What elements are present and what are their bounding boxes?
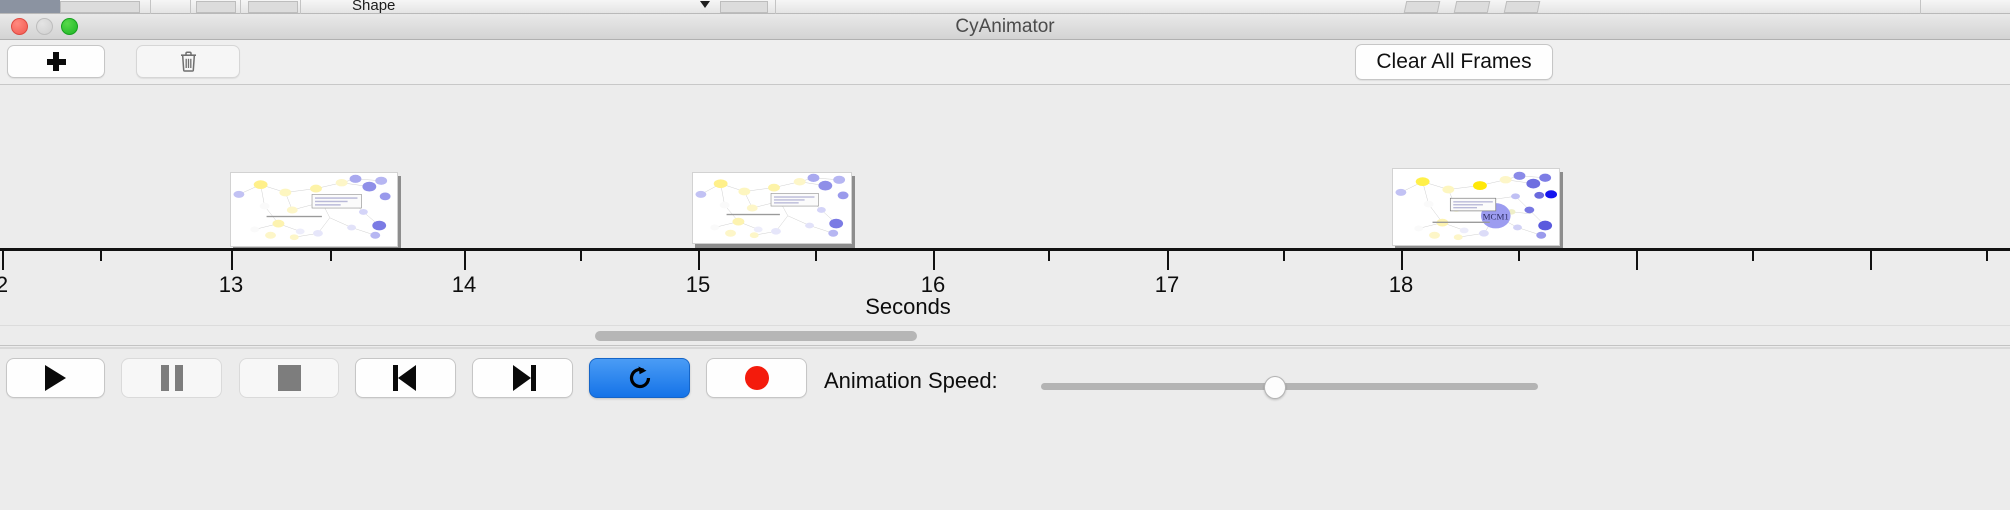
skip-to-end-button[interactable] <box>472 358 573 398</box>
cyanimator-window: Shape CyAnimator <box>0 0 2010 510</box>
loop-icon <box>625 363 655 393</box>
pause-icon <box>161 365 183 391</box>
ruler-tick <box>1986 251 1988 261</box>
ruler-tick <box>580 251 582 261</box>
network-graph-render: MCM1 <box>1393 169 1559 245</box>
frame-thumbnail-2[interactable] <box>692 172 852 244</box>
background-selected-tab <box>0 0 60 13</box>
axis-title-label: Seconds <box>865 294 951 319</box>
ruler-tick <box>330 251 332 261</box>
animation-speed-label: Animation Speed: <box>824 368 998 394</box>
svg-text:MCM1: MCM1 <box>1483 212 1509 222</box>
trash-icon <box>180 51 197 72</box>
clear-all-frames-button[interactable]: Clear All Frames <box>1355 44 1553 80</box>
ruler-tick <box>1167 251 1169 270</box>
delete-frame-button[interactable] <box>136 45 240 78</box>
ruler-tick <box>1752 251 1754 261</box>
ruler-tick <box>1048 251 1050 261</box>
axis-title: Seconds <box>0 294 2010 320</box>
stop-icon <box>278 365 301 391</box>
playback-control-bar: Animation Speed: <box>0 345 2010 510</box>
ruler-tick <box>1401 251 1403 270</box>
skip-to-start-button[interactable] <box>355 358 456 398</box>
background-window-strip: Shape <box>0 0 2010 14</box>
ruler-tick <box>933 251 935 270</box>
title-bar: CyAnimator <box>0 14 2010 40</box>
slider-track <box>1041 383 1538 390</box>
record-button[interactable] <box>706 358 807 398</box>
ruler-tick <box>1283 251 1285 261</box>
plus-icon <box>47 52 66 71</box>
ruler-tick <box>2 251 4 270</box>
skip-back-icon <box>393 365 419 391</box>
play-icon <box>45 365 66 391</box>
ruler-tick <box>1518 251 1520 261</box>
ruler-tick <box>815 251 817 261</box>
ruler-baseline <box>0 248 2010 251</box>
clear-all-frames-label: Clear All Frames <box>1376 50 1531 74</box>
frame-thumbnail-1[interactable] <box>230 172 398 247</box>
ruler-tick <box>231 251 233 270</box>
window-title: CyAnimator <box>0 14 2010 40</box>
background-tabbar <box>0 0 2010 14</box>
network-graph-render <box>693 173 851 243</box>
network-graph-render <box>231 173 397 246</box>
animation-speed-slider[interactable] <box>1041 376 1538 398</box>
skip-forward-icon <box>510 365 536 391</box>
frame-thumbnail-3[interactable]: MCM1 <box>1392 168 1560 246</box>
ruler-tick <box>464 251 466 270</box>
play-button[interactable] <box>6 358 105 398</box>
timeline-canvas[interactable]: MCM1 <box>0 86 2010 248</box>
ruler-tick <box>100 251 102 261</box>
toolbar: Clear All Frames <box>0 40 2010 85</box>
loop-button[interactable] <box>589 358 690 398</box>
ruler-tick <box>1870 251 1872 270</box>
ruler-tick <box>1636 251 1638 270</box>
horizontal-scrollbar[interactable] <box>0 325 2010 345</box>
stop-button[interactable] <box>239 358 339 398</box>
slider-thumb[interactable] <box>1264 376 1286 399</box>
background-shape-label: Shape <box>352 0 395 14</box>
pause-button[interactable] <box>121 358 222 398</box>
add-frame-button[interactable] <box>7 45 105 78</box>
horizontal-scrollbar-thumb[interactable] <box>595 331 917 341</box>
ruler-tick <box>698 251 700 270</box>
control-bar-divider <box>0 347 2010 349</box>
record-icon <box>745 366 769 390</box>
